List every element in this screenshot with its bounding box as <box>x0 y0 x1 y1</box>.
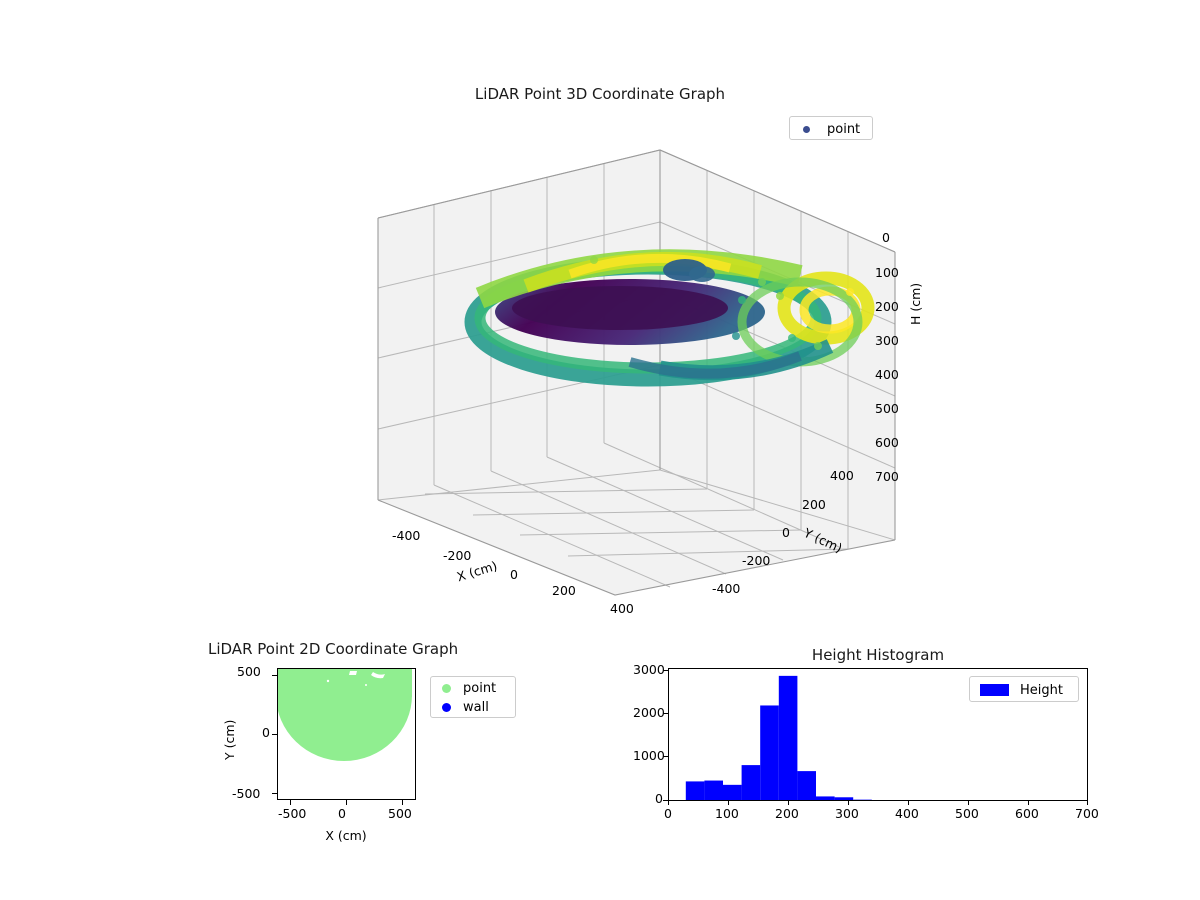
plot3d-xtick-0: 0 <box>510 567 518 582</box>
histogram-xtick-200: 200 <box>775 806 799 821</box>
plot3d-ztick-0: 0 <box>882 230 890 245</box>
legend-label-point: point <box>463 681 496 696</box>
legend-item-point[interactable]: point <box>798 117 864 141</box>
histogram-bars <box>686 676 872 801</box>
legend-label-wall: wall <box>463 700 489 715</box>
plot3d-ytick--200: -200 <box>742 553 770 568</box>
histogram-bar <box>742 765 761 801</box>
plot3d-axes[interactable]: 0 100 200 300 400 500 600 700 H (cm) -40… <box>330 140 950 640</box>
histogram-xtick-600: 600 <box>1015 806 1039 821</box>
plot2d-xtick-mark-0 <box>346 800 347 805</box>
histogram-ytick-1000: 1000 <box>633 748 665 763</box>
plot3d-ztick-300: 300 <box>875 333 899 348</box>
plot2d-xtick-0: 0 <box>338 806 346 821</box>
plot3d-ztick-700: 700 <box>875 469 899 484</box>
legend-label-height: Height <box>1020 683 1063 698</box>
legend-label-point: point <box>827 122 860 137</box>
plot2d-axes[interactable] <box>277 668 416 800</box>
plot2d-legend[interactable]: point wall <box>430 676 516 718</box>
plot2d-xtick-500: 500 <box>388 806 412 821</box>
plot3d-ytick--400: -400 <box>712 581 740 596</box>
histogram-xtick-mark-300 <box>848 800 849 805</box>
plot3d-ztick-100: 100 <box>875 265 899 280</box>
histogram-xtick-mark-100 <box>728 800 729 805</box>
histogram-ytick-mark-3000 <box>663 670 668 671</box>
plot2d-ytick-500: 500 <box>237 664 261 679</box>
plot3d-ztick-500: 500 <box>875 401 899 416</box>
plot3d-xtick-400: 400 <box>610 601 634 616</box>
histogram-bar <box>853 800 872 801</box>
figure-canvas: LiDAR Point 3D Coordinate Graph <box>0 0 1200 900</box>
histogram-xtick-700: 700 <box>1075 806 1099 821</box>
histogram-xtick-mark-0 <box>668 800 669 805</box>
plot2d-ytick-mark--500 <box>272 793 277 794</box>
plot2d-ytick--500: -500 <box>232 786 260 801</box>
histogram-xtick-mark-700 <box>1087 800 1088 805</box>
histogram-xtick-0: 0 <box>664 806 672 821</box>
wall-marker-icon <box>442 703 451 712</box>
plot3d-ztick-200: 200 <box>875 299 899 314</box>
histogram-xtick-mark-200 <box>788 800 789 805</box>
histogram-bar <box>797 771 816 801</box>
histogram-bar <box>723 785 742 801</box>
plot2d-title: LiDAR Point 2D Coordinate Graph <box>208 640 458 658</box>
plot3d-ytick-0: 0 <box>782 525 790 540</box>
plot2d-xtick--500: -500 <box>278 806 306 821</box>
histogram-title: Height Histogram <box>812 646 944 664</box>
histogram-bar <box>686 781 705 801</box>
histogram-bar <box>835 797 854 801</box>
plot2d-ytick-mark-0 <box>272 734 277 735</box>
plot3d-xtick-200: 200 <box>552 583 576 598</box>
histogram-ytick-mark-1000 <box>663 756 668 757</box>
plot3d-xtick--200: -200 <box>443 548 471 563</box>
plot2d-xtick-mark--500 <box>290 800 291 805</box>
histogram-ytick-mark-2000 <box>663 713 668 714</box>
histogram-ytick-3000: 3000 <box>633 662 665 677</box>
plot2d-ytick-0: 0 <box>262 725 270 740</box>
histogram-xtick-500: 500 <box>955 806 979 821</box>
plot2d-ytick-mark-500 <box>272 675 277 676</box>
plot3d-legend[interactable]: point <box>789 116 873 140</box>
histogram-xtick-mark-500 <box>968 800 969 805</box>
plot3d-ytick-200: 200 <box>802 497 826 512</box>
plot3d-xtick--400: -400 <box>392 528 420 543</box>
point-marker-icon <box>803 126 810 133</box>
histogram-bar <box>760 705 779 801</box>
histogram-ytick-0: 0 <box>655 791 663 806</box>
plot2d-yaxis-label: Y (cm) <box>222 720 237 760</box>
plot3d-ztick-400: 400 <box>875 367 899 382</box>
height-swatch-icon <box>980 684 1009 696</box>
legend-item-wall[interactable]: wall <box>439 698 507 717</box>
histogram-xtick-300: 300 <box>835 806 859 821</box>
histogram-bar <box>704 781 723 801</box>
legend-item-point[interactable]: point <box>439 679 507 698</box>
plot3d-zaxis-label: H (cm) <box>908 283 923 325</box>
histogram-legend[interactable]: Height <box>969 676 1079 702</box>
plot3d-canvas <box>330 140 950 640</box>
histogram-bar <box>779 676 798 801</box>
point-marker-icon <box>442 684 451 693</box>
histogram-xtick-100: 100 <box>715 806 739 821</box>
legend-item-height[interactable]: Height <box>978 677 1070 703</box>
plot2d-canvas <box>278 669 416 800</box>
histogram-ytick-2000: 2000 <box>633 705 665 720</box>
plot2d-xaxis-label: X (cm) <box>325 828 366 843</box>
plot3d-ztick-600: 600 <box>875 435 899 450</box>
histogram-xtick-mark-400 <box>908 800 909 805</box>
histogram-bar <box>816 796 835 801</box>
plot3d-ytick-400: 400 <box>830 468 854 483</box>
plot3d-title: LiDAR Point 3D Coordinate Graph <box>475 85 725 103</box>
histogram-xtick-mark-600 <box>1028 800 1029 805</box>
plot2d-xtick-mark-500 <box>402 800 403 805</box>
histogram-xtick-400: 400 <box>895 806 919 821</box>
